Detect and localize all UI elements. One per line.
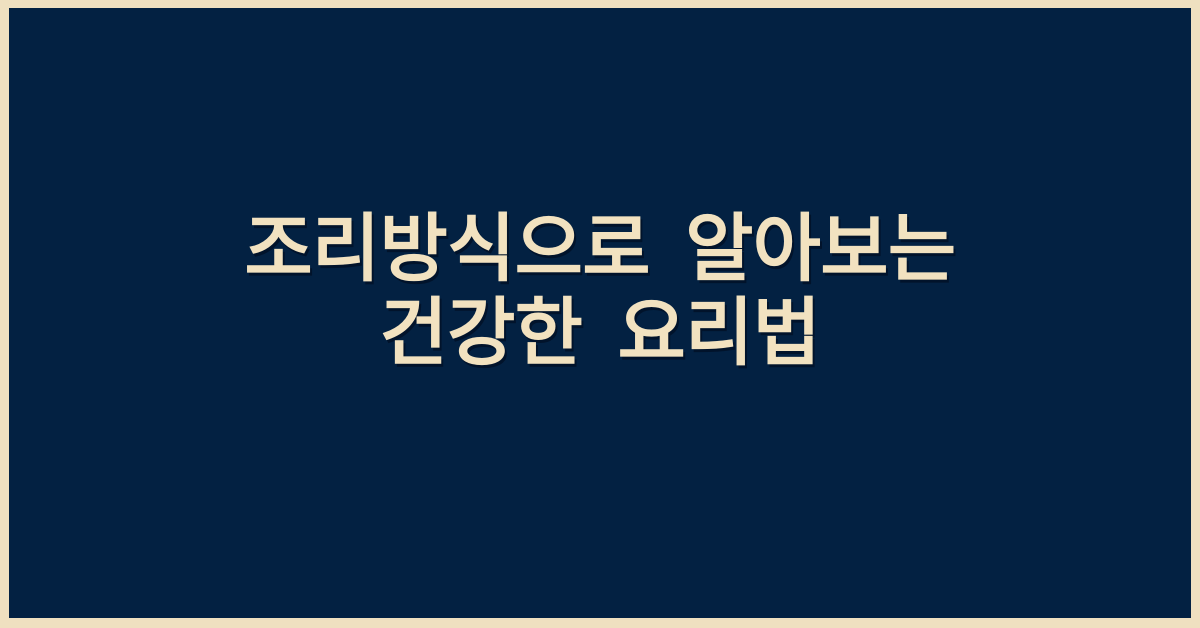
poster-card: 조리방식으로 알아보는 건강한 요리법 — [9, 8, 1191, 618]
headline-line-2: 건강한 요리법 — [49, 291, 1151, 375]
page-title: 조리방식으로 알아보는 건강한 요리법 — [9, 207, 1191, 419]
headline-line-1: 조리방식으로 알아보는 — [49, 207, 1151, 291]
poster-frame: 조리방식으로 알아보는 건강한 요리법 — [0, 0, 1200, 628]
